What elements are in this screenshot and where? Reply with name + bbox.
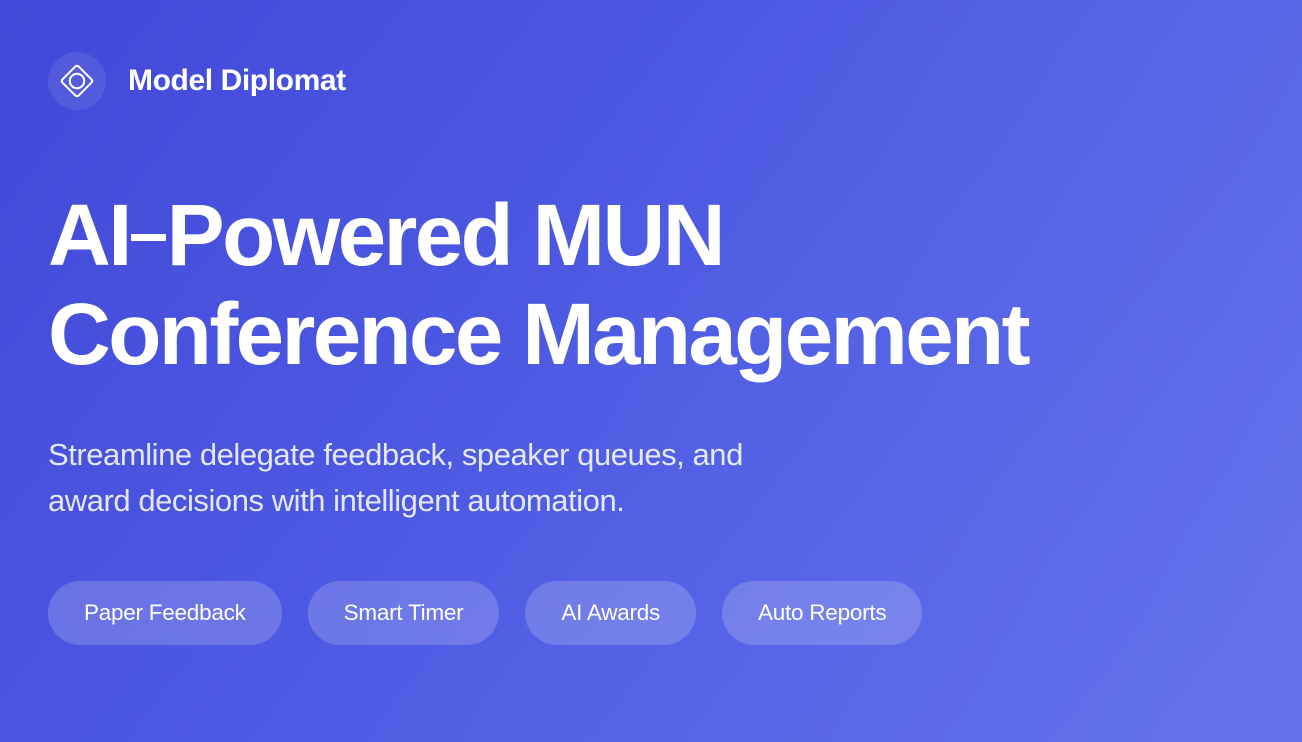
feature-pill-label: Smart Timer (344, 600, 464, 626)
feature-pill-label: Paper Feedback (84, 600, 246, 626)
page-title-line-1-before-dash: AI (48, 187, 130, 284)
page-subtitle: Streamline delegate feedback, speaker qu… (48, 432, 1048, 524)
feature-pill-label: Auto Reports (758, 600, 886, 626)
hyphen-glyph (131, 234, 166, 241)
page-title-line-1-after-dash: Powered MUN (167, 187, 723, 284)
feature-pill-smart-timer[interactable]: Smart Timer (308, 581, 500, 645)
feature-pill-paper-feedback[interactable]: Paper Feedback (48, 581, 282, 645)
page-title-line-2: Conference Management (48, 285, 1254, 384)
hero-section: Model Diplomat AIPowered MUN Conference … (0, 0, 1302, 742)
feature-pill-row: Paper Feedback Smart Timer AI Awards Aut… (48, 581, 1254, 645)
feature-pill-label: AI Awards (561, 600, 660, 626)
diamond-circle-icon (48, 52, 106, 110)
page-title: AIPowered MUN Conference Management (48, 186, 1254, 384)
feature-pill-ai-awards[interactable]: AI Awards (525, 581, 696, 645)
page-title-line-1: AIPowered MUN (48, 186, 1254, 285)
feature-pill-auto-reports[interactable]: Auto Reports (722, 581, 922, 645)
page-subtitle-line-1: Streamline delegate feedback, speaker qu… (48, 432, 1048, 478)
page-subtitle-line-2: award decisions with intelligent automat… (48, 478, 1048, 524)
brand-header[interactable]: Model Diplomat (48, 50, 1254, 112)
brand-name: Model Diplomat (128, 66, 346, 96)
